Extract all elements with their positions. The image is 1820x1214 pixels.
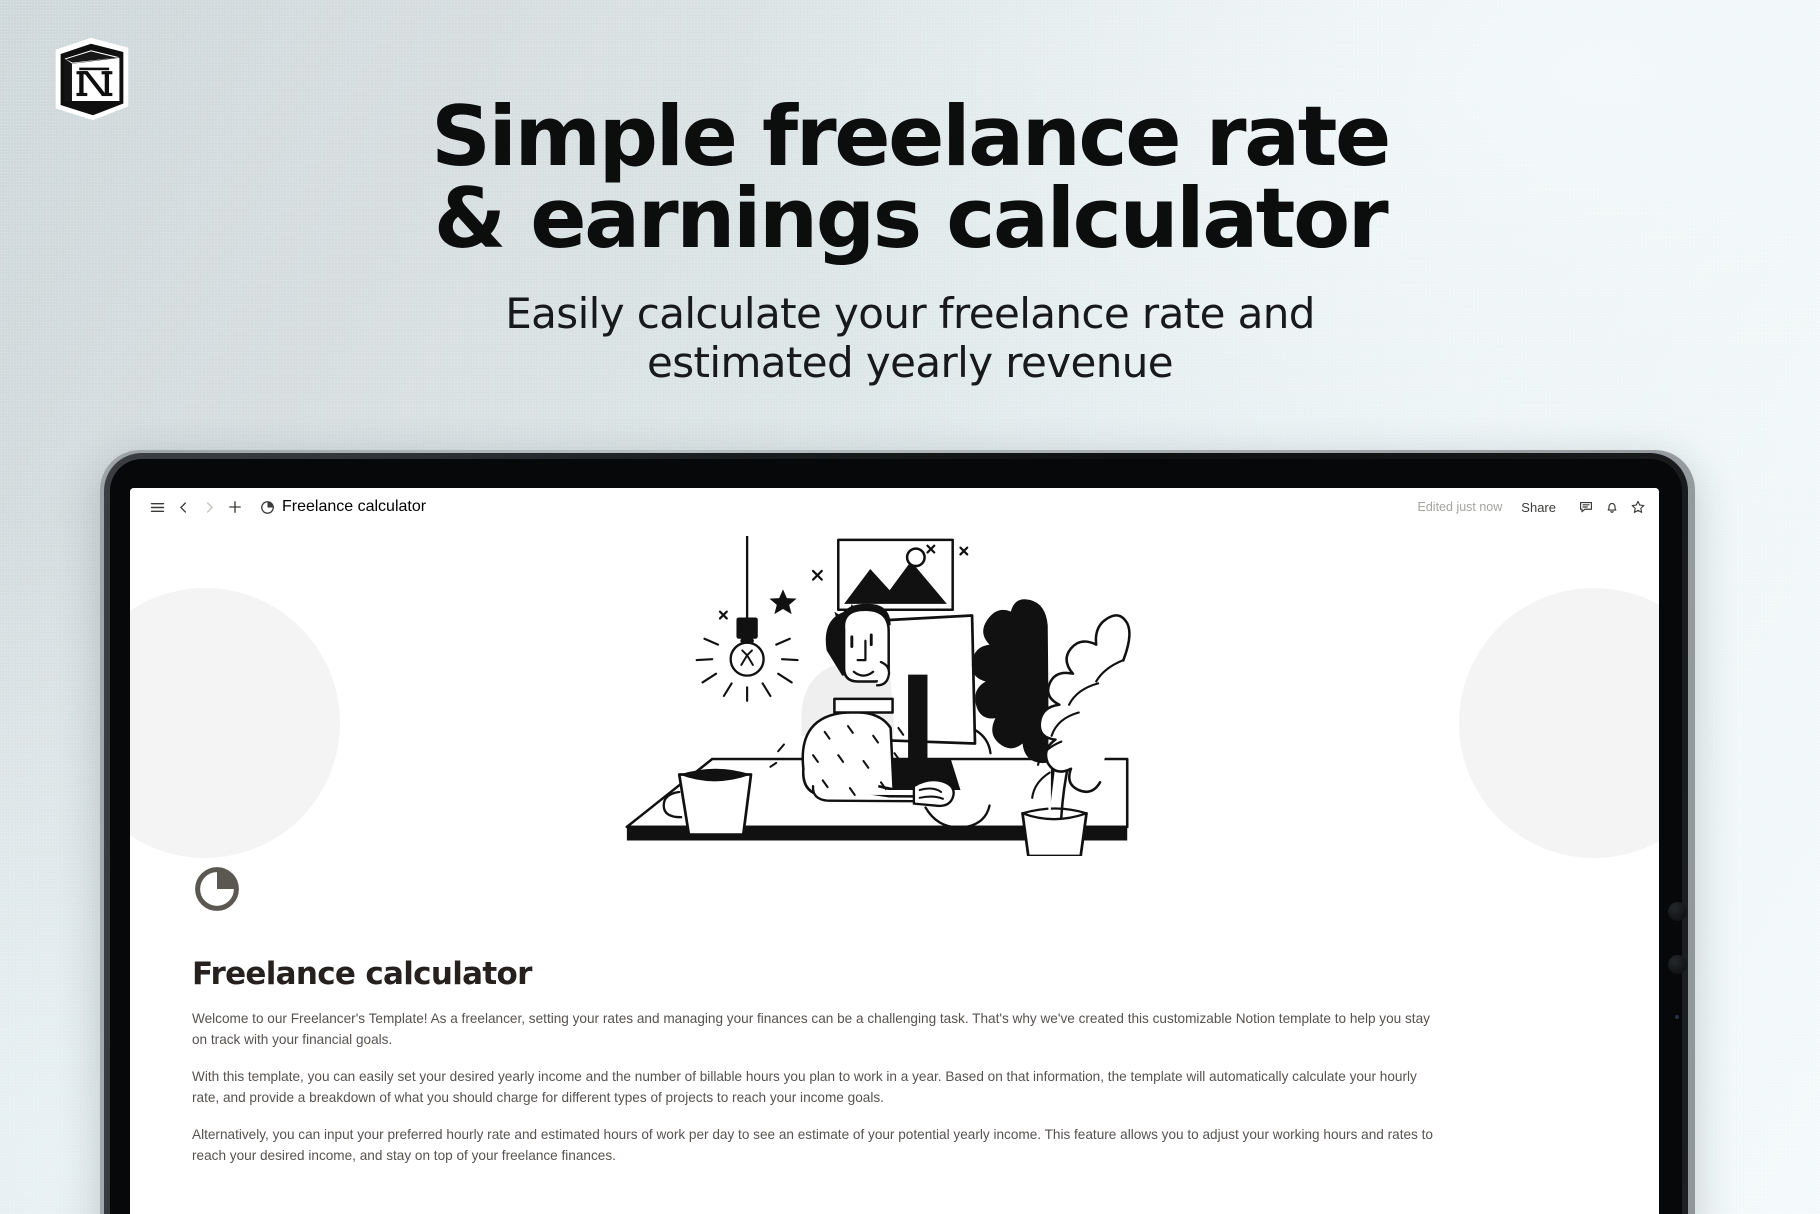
device-status-indicator: [1675, 1015, 1679, 1019]
page-paragraph: Alternatively, you can input your prefer…: [192, 1124, 1447, 1166]
topbar-left-group: Freelance calculator: [144, 494, 432, 520]
bell-icon[interactable]: [1599, 494, 1625, 520]
page-paragraph: Welcome to our Freelancer's Template! As…: [192, 1008, 1447, 1050]
device-volume-up-button[interactable]: [1668, 902, 1687, 921]
hero-stage: Simple freelance rate & earnings calcula…: [0, 0, 1820, 1214]
breadcrumb-label: Freelance calculator: [282, 498, 426, 516]
page-subheadline: Easily calculate your freelance rate and…: [0, 290, 1820, 387]
comment-bubble-icon[interactable]: [1573, 494, 1599, 520]
page-cover: [130, 526, 1659, 856]
device-screen: Freelance calculator Edited just now Sha…: [130, 488, 1659, 1214]
share-button[interactable]: Share: [1516, 497, 1561, 518]
page-content: Freelance calculator Welcome to our Free…: [130, 864, 1659, 1166]
tablet-device-mockup: Freelance calculator Edited just now Sha…: [100, 450, 1695, 1214]
headline-line-2: & earnings calculator: [0, 178, 1820, 260]
chevron-left-icon[interactable]: [170, 494, 196, 520]
device-volume-down-button[interactable]: [1668, 955, 1687, 974]
notion-page: Freelance calculator Welcome to our Free…: [130, 526, 1659, 1214]
page-paragraph: With this template, you can easily set y…: [192, 1066, 1447, 1108]
notion-logo-icon: [42, 30, 140, 128]
page-title: Freelance calculator: [192, 956, 1599, 992]
breadcrumb[interactable]: Freelance calculator: [254, 496, 432, 518]
topbar-right-group: Edited just now Share: [1418, 494, 1651, 520]
freelancer-at-desk-illustration: [623, 536, 1166, 856]
notion-topbar: Freelance calculator Edited just now Sha…: [130, 488, 1659, 526]
star-icon[interactable]: [1625, 494, 1651, 520]
page-headline: Simple freelance rate & earnings calcula…: [0, 96, 1820, 260]
subhead-line-2: estimated yearly revenue: [0, 339, 1820, 388]
pie-chart-icon: [192, 864, 242, 914]
pie-chart-icon: [260, 500, 275, 515]
hero-text-block: Simple freelance rate & earnings calcula…: [0, 96, 1820, 388]
hamburger-menu-icon[interactable]: [144, 494, 170, 520]
chevron-right-icon[interactable]: [196, 494, 222, 520]
subhead-line-1: Easily calculate your freelance rate and: [505, 289, 1315, 338]
edited-status-label: Edited just now: [1418, 500, 1503, 514]
plus-icon[interactable]: [222, 494, 248, 520]
